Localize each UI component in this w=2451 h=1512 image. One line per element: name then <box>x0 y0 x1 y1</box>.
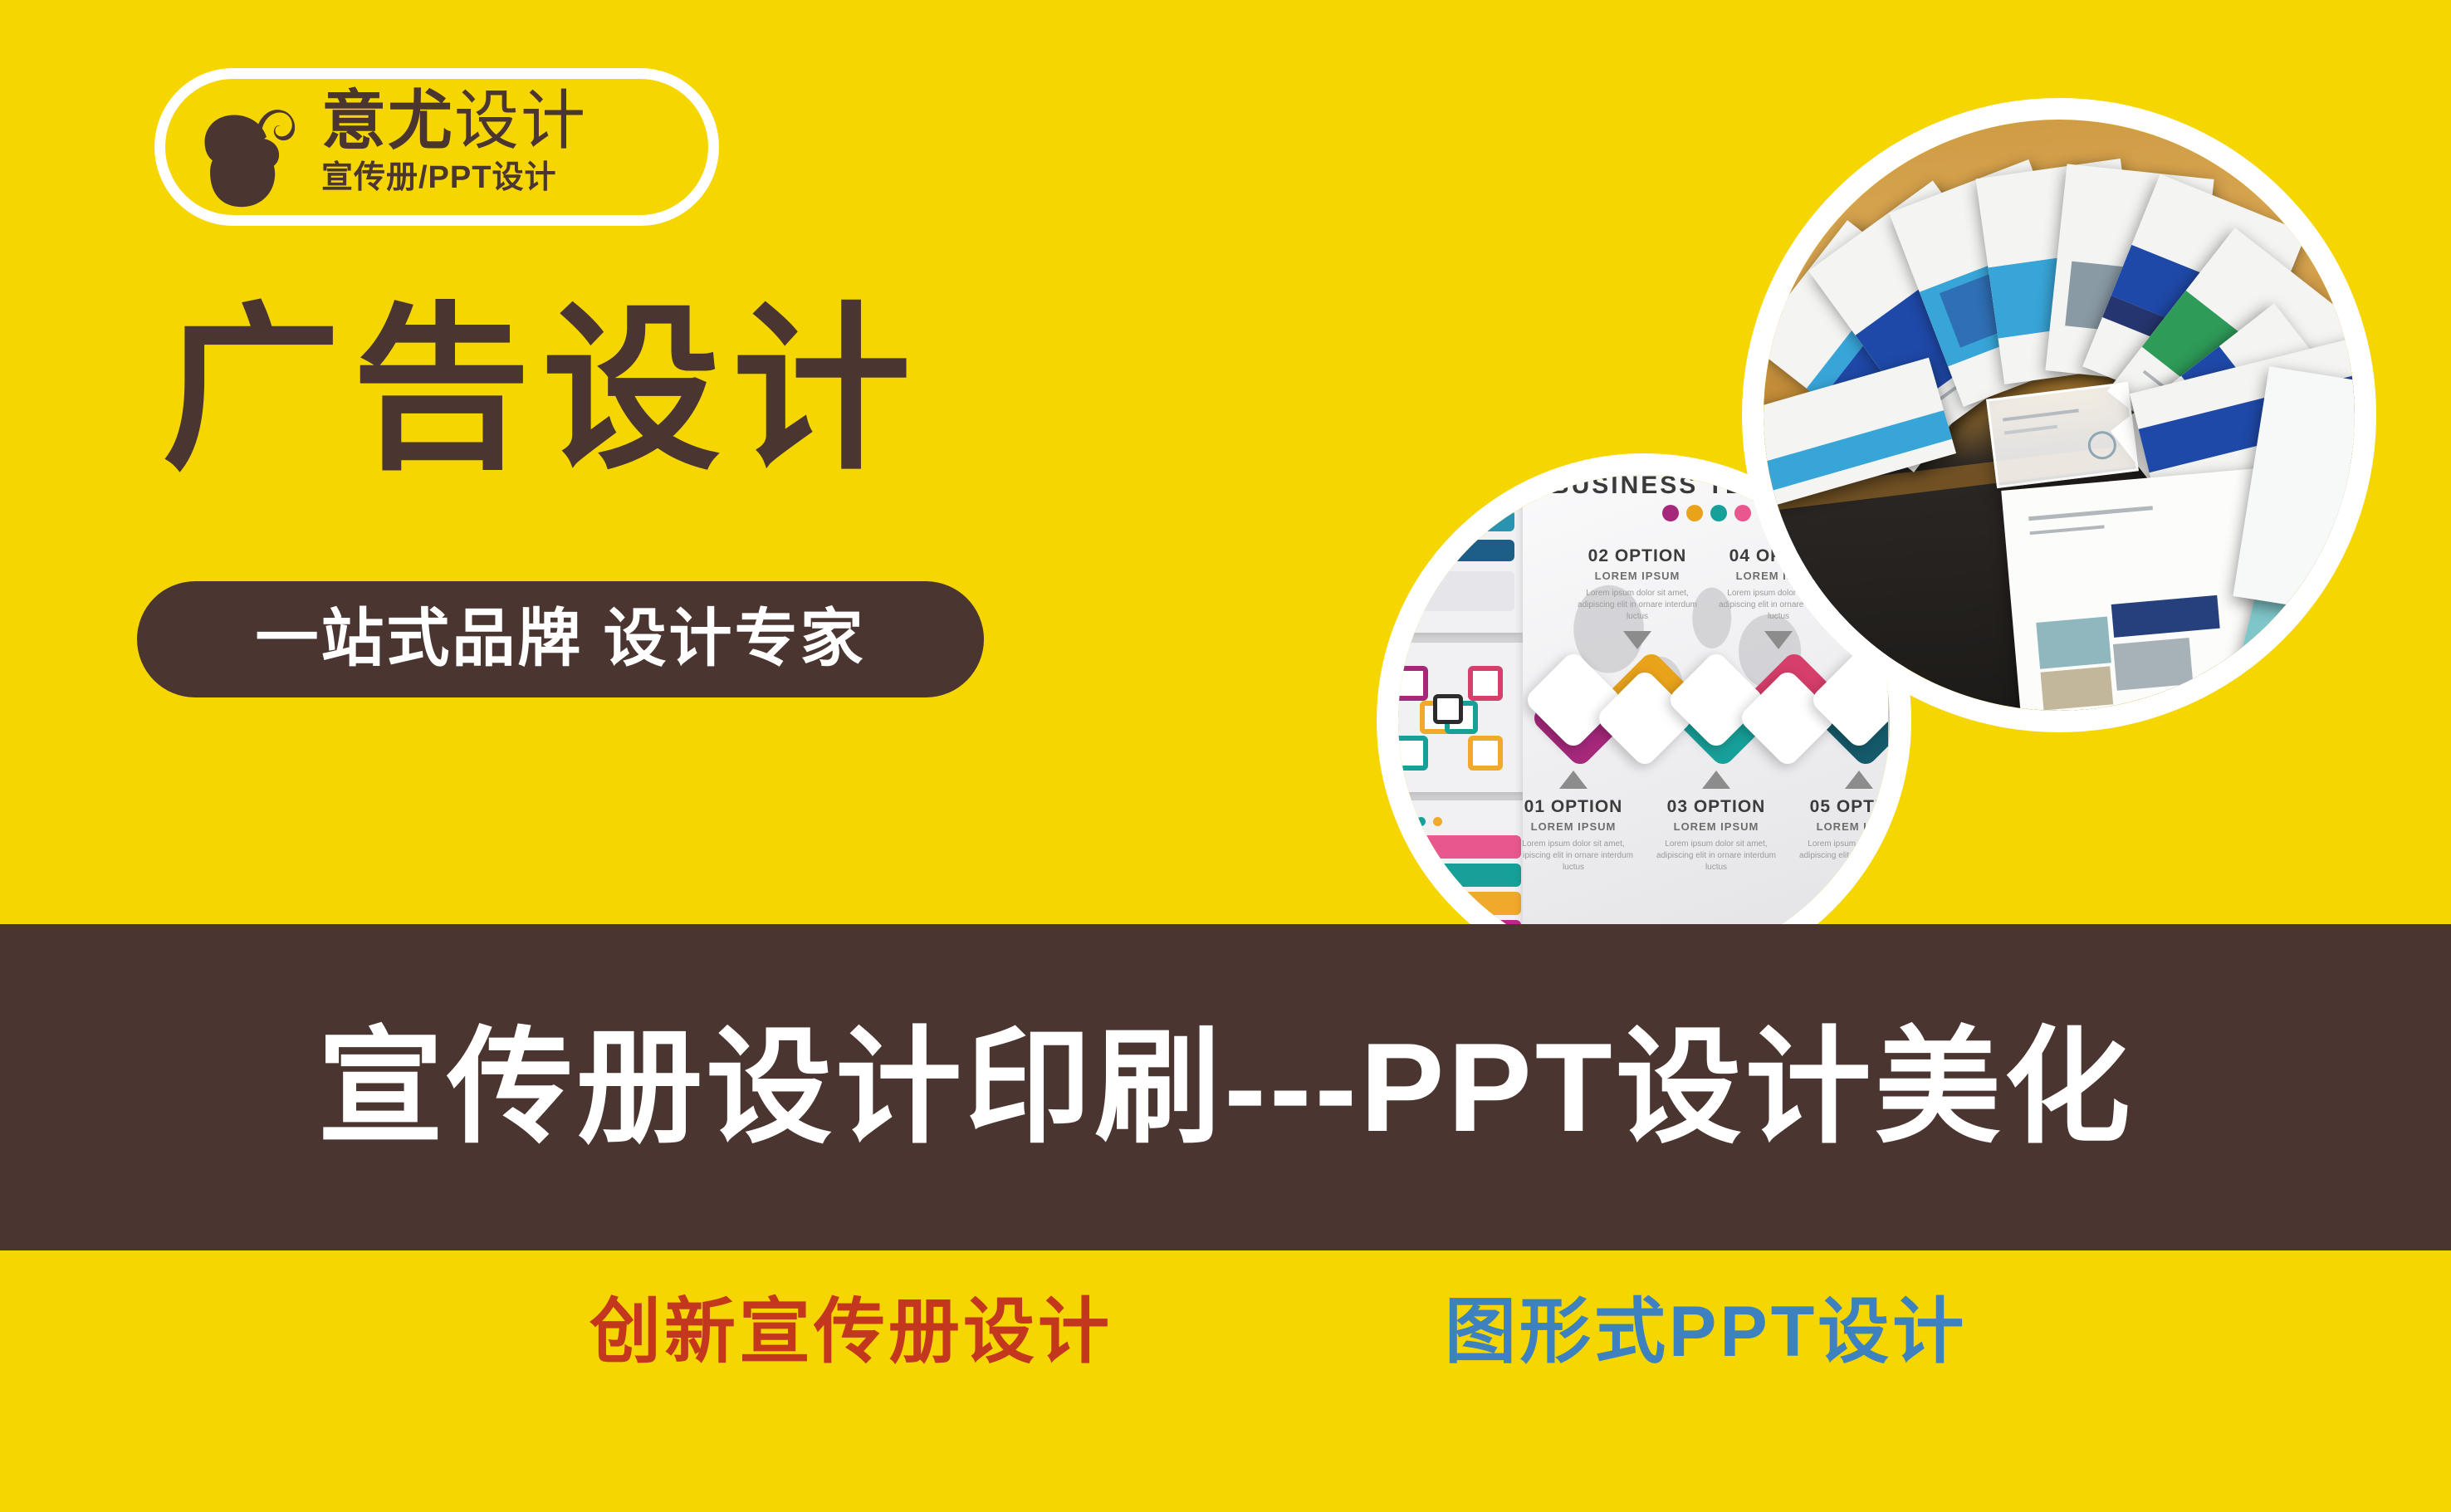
tagline-badge-label: 一站式品牌 设计专家 <box>255 602 865 677</box>
ppt-pointer-up-03 <box>1702 771 1730 789</box>
brochure-showcase-circle-image <box>1742 98 2376 732</box>
business-card-holder <box>1986 382 2139 488</box>
ppt-option-body-05: Lorem ipsum dolor sit amet, adipiscing e… <box>1788 839 1888 873</box>
logo-title-heavy: 意尤 <box>321 84 454 157</box>
ppt-option-sub-01: LOREM IPSUM <box>1523 820 1640 833</box>
gourd-bird-mark-icon <box>180 91 305 215</box>
brand-logo-lockup: 意尤设计 宣传册/PPT设计 <box>154 68 719 226</box>
ppt-option-label-05: 05 OPTION <box>1793 797 1888 817</box>
service-banner-text: 宣传册设计印刷---PPT设计美化 <box>317 1017 2133 1158</box>
ppt-mini-slide-banners <box>1398 475 1523 633</box>
logo-title-light: 设计 <box>454 84 587 157</box>
logo-title: 意尤设计 <box>321 82 712 159</box>
logo-text-block: 意尤设计 宣传册/PPT设计 <box>321 82 712 197</box>
brochure-desk-photo <box>1764 120 2355 711</box>
ppt-mini-dots <box>1398 817 1442 826</box>
brand-stamp-s-icon <box>2178 695 2219 711</box>
page-title: 广告设计 <box>162 295 922 486</box>
ppt-pointer-up-05 <box>1845 771 1873 789</box>
brochure-photo-inner <box>1764 120 2355 711</box>
ppt-option-body-03: Lorem ipsum dolor sit amet, adipiscing e… <box>1646 839 1787 873</box>
caption-brochure-design: 创新宣传册设计 <box>590 1290 1113 1373</box>
ppt-option-sub-03: LOREM IPSUM <box>1650 820 1783 833</box>
caption-ppt-design: 图形式PPT设计 <box>1445 1290 1967 1373</box>
ppt-pointer-up-01 <box>1559 771 1588 789</box>
ppt-pointer-down-02 <box>1623 631 1651 649</box>
advertising-design-banner: 意尤设计 宣传册/PPT设计 广告设计 一站式品牌 设计专家 <box>0 0 2451 1512</box>
ppt-option-label-02: 02 OPTION <box>1571 546 1704 566</box>
ppt-option-sub-02: LOREM IPSUM <box>1571 570 1704 582</box>
ppt-option-body-01: Lorem ipsum dolor sit amet, adipiscing e… <box>1523 839 1644 873</box>
logo-subtitle: 宣传册/PPT设计 <box>321 159 712 197</box>
ppt-option-sub-05: LOREM IPSUM <box>1793 820 1888 833</box>
ppt-mini-slide-matrix <box>1398 643 1526 792</box>
ppt-option-label-03: 03 OPTION <box>1650 797 1783 817</box>
bottom-captions-row: 创新宣传册设计 图形式PPT设计 <box>0 1250 2451 1512</box>
ppt-option-label-01: 01 OPTION <box>1523 797 1640 817</box>
tagline-badge: 一站式品牌 设计专家 <box>137 581 984 697</box>
ppt-option-body-02: Lorem ipsum dolor sit amet, adipiscing e… <box>1567 588 1708 623</box>
service-banner-band: 宣传册设计印刷---PPT设计美化 <box>0 924 2451 1250</box>
